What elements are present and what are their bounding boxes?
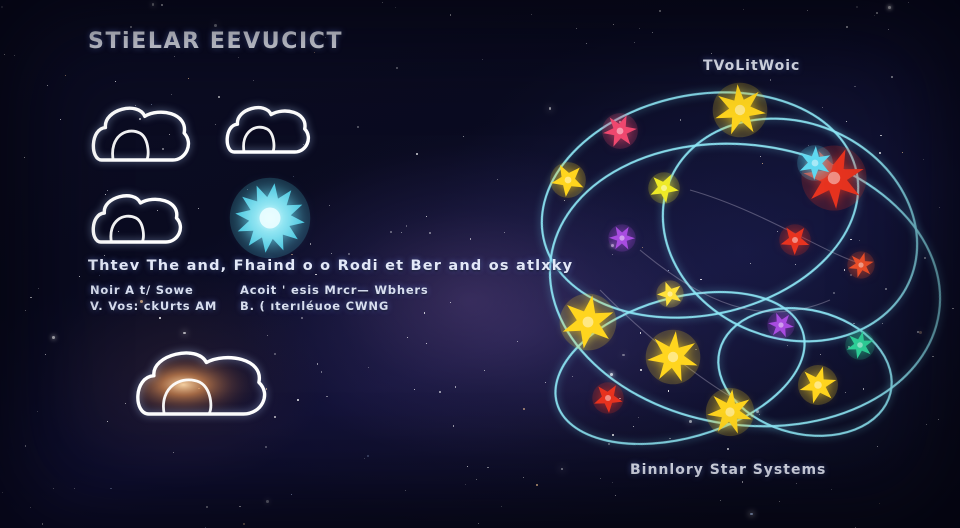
caption-line-2a: Noir A t/ Sowe <box>90 283 194 297</box>
caption-block: Thtev The and, Fhaind o o Rodi et Ber an… <box>0 0 960 528</box>
caption-line-2b: Acoit ' esis Mrcr— Wbhers <box>240 283 429 297</box>
diagram-label-evolution: TVoLitWoic <box>703 58 800 74</box>
caption-line-3a: V. Vos: ckUrts AM <box>90 299 217 313</box>
caption-line-1: Thtev The and, Fhaind o o Rodi et Ber an… <box>88 258 573 274</box>
caption-line-3b: B. ( ıterıléuoe CWNG <box>240 299 389 313</box>
diagram-label-binary-star-systems: Binnlory Star Systems <box>630 462 826 478</box>
infographic-canvas: STiELAR EEVUCICT Thtev The and, Fhaind o… <box>0 0 960 528</box>
